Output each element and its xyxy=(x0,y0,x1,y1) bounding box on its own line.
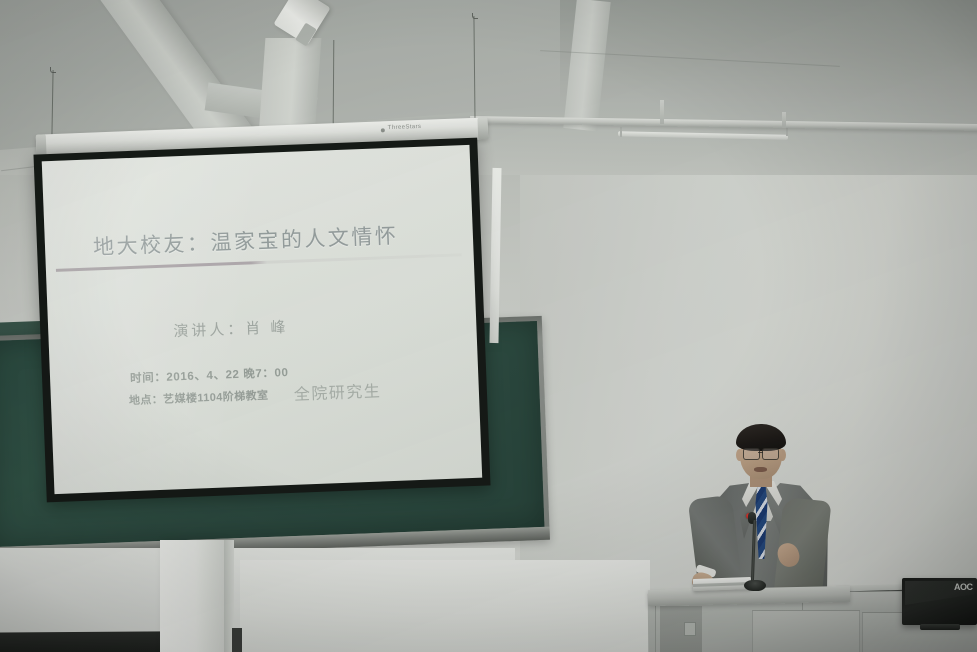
screen-housing-cap-right xyxy=(477,117,488,139)
hanging-light-arm-left xyxy=(620,127,622,137)
desk-knob[interactable] xyxy=(684,622,696,636)
microphone-base xyxy=(744,580,766,591)
book-page-edge xyxy=(693,582,751,587)
glasses-lens-left xyxy=(743,448,760,460)
presentation-slide: 地大校友：温家宝的人文情怀 演讲人：肖 峰 时间：2016、4、22 晚7：00… xyxy=(42,145,482,494)
screen-brand-logo-icon xyxy=(381,128,385,132)
slide-place-line: 地点：艺媒楼1104阶梯教室 xyxy=(129,387,269,408)
open-book-on-podium xyxy=(693,577,751,591)
hair xyxy=(736,424,786,451)
glasses-bridge xyxy=(758,452,763,453)
front-wall-right-section xyxy=(240,560,650,652)
projection-screen: 地大校友：温家宝的人文情怀 演讲人：肖 峰 时间：2016、4、22 晚7：00… xyxy=(33,138,490,503)
ceiling-column-face xyxy=(259,38,322,136)
slide-speaker-line: 演讲人：肖 峰 xyxy=(173,316,289,341)
rail-hanger-b xyxy=(782,112,786,128)
glasses-lens-right xyxy=(762,448,779,460)
projection-screen-surface: 地大校友：温家宝的人文情怀 演讲人：肖 峰 时间：2016、4、22 晚7：00… xyxy=(42,145,482,494)
monitor-stand xyxy=(920,624,960,630)
lecture-hall-photo: ThreeStars 地大校友：温家宝的人文情怀 演讲人：肖 峰 时间：2016… xyxy=(0,0,977,652)
slide-time-line: 时间：2016、4、22 晚7：00 xyxy=(130,364,289,386)
aoc-monitor: AOC xyxy=(902,578,977,625)
monitor-brand-label: AOC xyxy=(954,582,973,592)
slide-title: 地大校友：温家宝的人文情怀 xyxy=(92,220,398,262)
screen-brand-label: ThreeStars xyxy=(388,124,422,131)
screen-wire-hook-right xyxy=(472,13,478,19)
screen-wire-hook-left xyxy=(50,67,56,73)
rail-hanger-a xyxy=(660,100,664,124)
desk-drawer-panel-a[interactable] xyxy=(752,610,860,652)
front-dark-strip xyxy=(0,631,165,652)
front-pillar-gap xyxy=(232,628,242,652)
slide-audience-line: 全院研究生 xyxy=(293,377,381,404)
front-pillar xyxy=(160,540,224,652)
mouth xyxy=(754,467,767,472)
